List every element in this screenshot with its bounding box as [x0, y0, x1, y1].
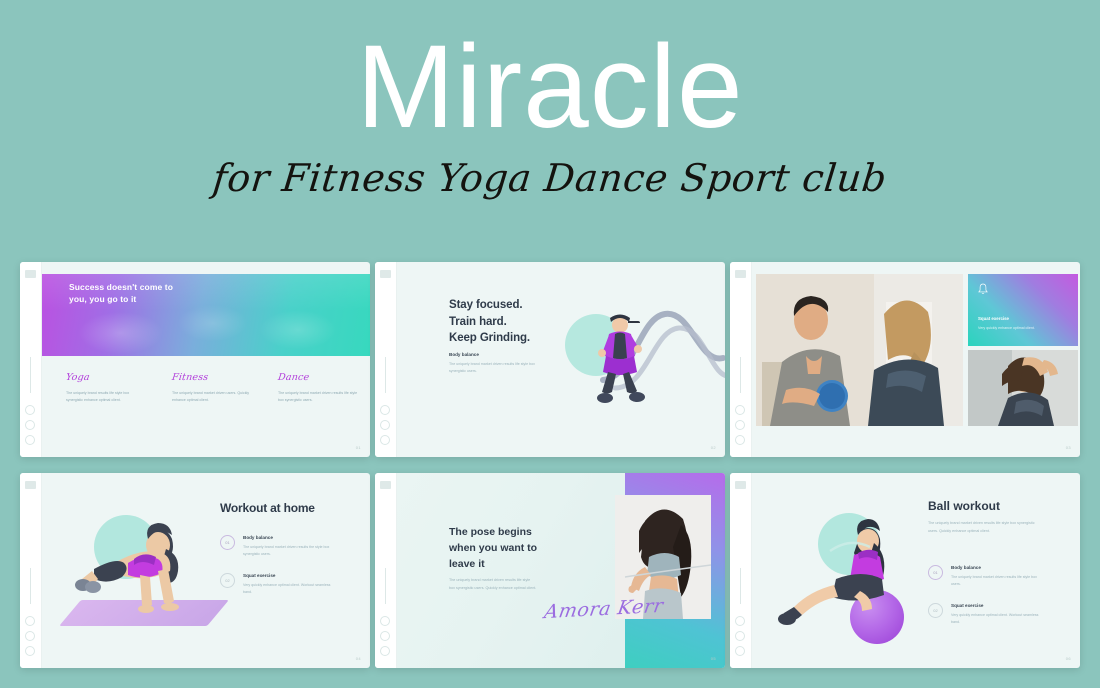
circle-icon-01: 01: [928, 565, 943, 580]
twitter-icon[interactable]: [735, 631, 745, 641]
facebook-icon[interactable]: [735, 405, 745, 415]
feature-item: 01 Body balance The uniquely brand marke…: [220, 535, 333, 558]
facebook-icon[interactable]: [380, 405, 390, 415]
twitter-icon[interactable]: [25, 631, 35, 641]
instagram-icon[interactable]: [25, 435, 35, 445]
feature-title: Squat exercise: [243, 573, 333, 578]
instagram-icon[interactable]: [735, 435, 745, 445]
feature-text: The uniquely brand market driven results…: [951, 574, 1041, 588]
slide-heading: The pose begins when you want to leave i…: [449, 525, 544, 572]
rail-divider: [30, 568, 31, 604]
page-number: 01: [356, 445, 361, 450]
page-number: 03: [1066, 445, 1071, 450]
slide-rail: [20, 262, 42, 457]
rail-divider: [385, 568, 386, 604]
slide-rail: [730, 262, 752, 457]
instagram-icon[interactable]: [380, 646, 390, 656]
slide-thumbnail-4[interactable]: Workout at home 01 Body balance The uniq…: [20, 473, 370, 668]
logo-mark-icon: [735, 481, 746, 489]
page-title: Miracle: [356, 28, 743, 146]
slide-thumbnail-2[interactable]: Stay focused. Train hard. Keep Grinding.…: [375, 262, 725, 457]
feature-title: Squat exercise: [951, 603, 1041, 608]
slide-content: Workout at home 01 Body balance The uniq…: [42, 473, 370, 668]
social-icons: [380, 616, 390, 656]
hero-banner: Miracle for Fitness Yoga Dance Sport clu…: [0, 0, 1100, 248]
circle-icon-01: 01: [220, 535, 235, 550]
feature-title: Body balance: [243, 535, 333, 540]
plank-pose-illustration: [74, 515, 192, 621]
gradient-info-card: Squat exercise Very quickly enhance opti…: [968, 274, 1078, 346]
photo-figures: [756, 274, 963, 426]
heading-line-2: Train hard.: [449, 314, 530, 331]
heading-line-1: Stay focused.: [449, 297, 530, 314]
page-number: 02: [711, 445, 716, 450]
slide-content: The pose begins when you want to leave i…: [397, 473, 725, 668]
bell-icon: [978, 283, 988, 295]
instagram-icon[interactable]: [380, 435, 390, 445]
slide-text: The uniquely brand market driven results…: [928, 520, 1044, 535]
rail-divider: [30, 357, 31, 393]
column-title: Yoga: [65, 372, 147, 383]
slide-content: Ball workout The uniquely brand market d…: [752, 473, 1080, 668]
logo-mark-icon: [25, 481, 36, 489]
subsection-title: Body balance: [449, 352, 479, 357]
card-text: Very quickly enhance optimal client.: [978, 325, 1068, 332]
twitter-icon[interactable]: [380, 420, 390, 430]
slide-thumbnail-5[interactable]: The pose begins when you want to leave i…: [375, 473, 725, 668]
quote-text: Success doesn't come to you, you go to i…: [69, 281, 179, 305]
feature-columns: Yoga The uniquely brand results life sty…: [66, 372, 358, 403]
slide-title: Workout at home: [220, 501, 315, 515]
twitter-icon[interactable]: [735, 420, 745, 430]
photo-woman-stretching: [968, 350, 1078, 426]
page-number: 06: [1066, 656, 1071, 661]
logo-mark-icon: [380, 481, 391, 489]
page-subtitle: for Fitness Yoga Dance Sport club: [211, 156, 889, 200]
card-title: Squat exercise: [978, 316, 1068, 321]
social-icons: [25, 405, 35, 445]
rail-divider: [740, 568, 741, 604]
feature-title: Body balance: [951, 565, 1041, 570]
social-icons: [735, 616, 745, 656]
feature-item: 02 Squat exercise Very quickly enhance o…: [220, 573, 333, 596]
slide-rail: [730, 473, 752, 668]
facebook-icon[interactable]: [25, 616, 35, 626]
column-text: The uniquely brand results life style bo…: [66, 390, 146, 403]
twitter-icon[interactable]: [25, 420, 35, 430]
instagram-icon[interactable]: [25, 646, 35, 656]
slide-content: Success doesn't come to you, you go to i…: [42, 262, 370, 457]
social-icons: [735, 405, 745, 445]
heading-line-3: Keep Grinding.: [449, 330, 530, 347]
twitter-icon[interactable]: [380, 631, 390, 641]
slide-rail: [375, 473, 397, 668]
logo-mark-icon: [380, 270, 391, 278]
instagram-icon[interactable]: [735, 646, 745, 656]
column-dance: Dance The uniquely brand market driven r…: [278, 372, 358, 403]
subsection-text: The uniquely brand market driven results…: [449, 361, 541, 375]
slide-heading: Stay focused. Train hard. Keep Grinding.: [449, 297, 530, 347]
slide-thumbnail-3[interactable]: Squat exercise Very quickly enhance opti…: [730, 262, 1080, 457]
page-number: 05: [711, 656, 716, 661]
slide-rail: [20, 473, 42, 668]
logo-mark-icon: [735, 270, 746, 278]
slide-title: Ball workout: [928, 499, 1000, 513]
feature-text: Very quickly enhance optimal client. Wor…: [951, 612, 1041, 626]
circle-icon-02: 02: [220, 573, 235, 588]
photo-trainer-and-client: [756, 274, 963, 426]
rail-divider: [740, 357, 741, 393]
circle-icon-02: 02: [928, 603, 943, 618]
facebook-icon[interactable]: [380, 616, 390, 626]
logo-mark-icon: [25, 270, 36, 278]
page-number: 04: [356, 656, 361, 661]
column-title: Dance: [277, 372, 359, 383]
ball-workout-illustration: [776, 515, 906, 627]
social-icons: [380, 405, 390, 445]
column-yoga: Yoga The uniquely brand results life sty…: [66, 372, 146, 403]
slide-thumbnail-6[interactable]: Ball workout The uniquely brand market d…: [730, 473, 1080, 668]
slide-grid: Success doesn't come to you, you go to i…: [20, 262, 1080, 668]
feature-item: 02 Squat exercise Very quickly enhance o…: [928, 603, 1041, 626]
facebook-icon[interactable]: [735, 616, 745, 626]
column-text: The uniquely brand market driven users. …: [172, 390, 252, 403]
feature-item: 01 Body balance The uniquely brand marke…: [928, 565, 1041, 588]
slide-text: The uniquely brand market driven results…: [449, 577, 537, 592]
athlete-figure: [583, 312, 657, 412]
column-fitness: Fitness The uniquely brand market driven…: [172, 372, 252, 403]
rail-divider: [385, 357, 386, 393]
column-text: The uniquely brand market driven results…: [278, 390, 358, 403]
social-icons: [25, 616, 35, 656]
feature-text: The uniquely brand market driven results…: [243, 544, 333, 558]
slide-content: Squat exercise Very quickly enhance opti…: [752, 262, 1080, 457]
photo-figure: [968, 350, 1078, 426]
facebook-icon[interactable]: [25, 405, 35, 415]
slide-thumbnail-1[interactable]: Success doesn't come to you, you go to i…: [20, 262, 370, 457]
feature-text: Very quickly enhance optimal client. Wor…: [243, 582, 333, 596]
slide-content: Stay focused. Train hard. Keep Grinding.…: [397, 262, 725, 457]
column-title: Fitness: [171, 372, 253, 383]
slide-rail: [375, 262, 397, 457]
